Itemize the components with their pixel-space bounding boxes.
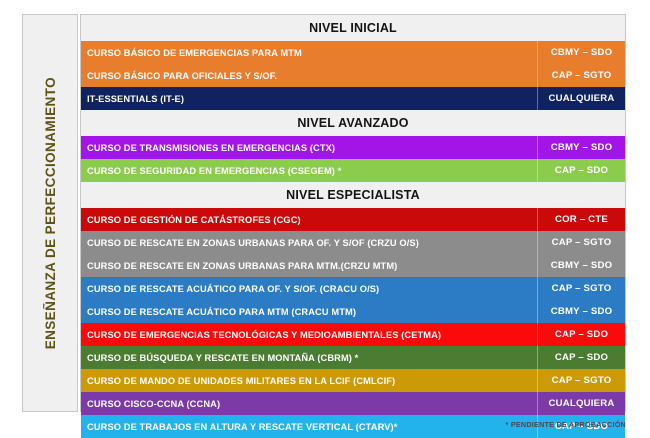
course-row[interactable]: CURSO DE BÚSQUEDA Y RESCATE EN MONTAÑA (…	[81, 346, 625, 369]
course-rank-code: CAP – SGTO	[537, 369, 625, 392]
footnote-text: * PENDIENTE DE APROBACCIÓN	[506, 420, 626, 429]
course-rank-code: CBMY – SDO	[537, 41, 625, 64]
course-name: CURSO DE RESCATE ACUÁTICO PARA MTM (CRAC…	[81, 300, 537, 323]
course-row[interactable]: CURSO DE RESCATE ACUÁTICO PARA OF. Y S/O…	[81, 277, 625, 300]
vertical-category-label: ENSEÑANZA DE PERFECCIONAMIENTO	[22, 14, 78, 412]
course-row[interactable]: CURSO BÁSICO PARA OFICIALES Y S/OF.CAP –…	[81, 64, 625, 87]
course-rank-code: CAP – SGTO	[537, 277, 625, 300]
course-name: CURSO DE GESTIÓN DE CATÁSTROFES (CGC)	[81, 208, 537, 231]
course-row[interactable]: CURSO DE RESCATE EN ZONAS URBANAS PARA M…	[81, 254, 625, 277]
section-header-row: NIVEL ESPECIALISTA	[81, 182, 625, 208]
course-name: CURSO DE RESCATE ACUÁTICO PARA OF. Y S/O…	[81, 277, 537, 300]
course-rank-code: CAP – SGTO	[537, 231, 625, 254]
course-row[interactable]: CURSO DE MANDO DE UNIDADES MILITARES EN …	[81, 369, 625, 392]
course-row[interactable]: CURSO DE EMERGENCIAS TECNOLÓGICAS Y MEDI…	[81, 323, 625, 346]
course-name: CURSO BÁSICO DE EMERGENCIAS PARA MTM	[81, 41, 537, 64]
course-rank-code: CAP – SDO	[537, 346, 625, 369]
course-rank-code: CBMY – SDO	[537, 136, 625, 159]
course-row[interactable]: CURSO DE SEGURIDAD EN EMERGENCIAS (CSEGE…	[81, 159, 625, 182]
course-rank-code: CAP – SDO	[537, 323, 625, 346]
courses-table: NIVEL INICIALCURSO BÁSICO DE EMERGENCIAS…	[80, 14, 626, 412]
training-levels-infographic: ENSEÑANZA DE PERFECCIONAMIENTO NIVEL INI…	[0, 0, 650, 438]
course-row[interactable]: CURSO CISCO-CCNA (CCNA)CUALQUIERA	[81, 392, 625, 415]
section-title: NIVEL AVANZADO	[81, 116, 625, 130]
course-name: CURSO DE EMERGENCIAS TECNOLÓGICAS Y MEDI…	[81, 323, 537, 346]
course-rank-code: CBMY – SDO	[537, 300, 625, 323]
course-row[interactable]: CURSO DE TRANSMISIONES EN EMERGENCIAS (C…	[81, 136, 625, 159]
section-title: NIVEL ESPECIALISTA	[81, 188, 625, 202]
course-row[interactable]: CURSO BÁSICO DE EMERGENCIAS PARA MTMCBMY…	[81, 41, 625, 64]
course-name: CURSO BÁSICO PARA OFICIALES Y S/OF.	[81, 64, 537, 87]
course-rank-code: CAP – SDO	[537, 159, 625, 182]
course-name: CURSO DE MANDO DE UNIDADES MILITARES EN …	[81, 369, 537, 392]
section-header-row: NIVEL INICIAL	[81, 15, 625, 41]
course-row[interactable]: CURSO DE GESTIÓN DE CATÁSTROFES (CGC)COR…	[81, 208, 625, 231]
course-name: CURSO DE BÚSQUEDA Y RESCATE EN MONTAÑA (…	[81, 346, 537, 369]
course-name: CURSO CISCO-CCNA (CCNA)	[81, 392, 537, 415]
course-rank-code: CAP – SGTO	[537, 64, 625, 87]
course-name: IT-ESSENTIALS (IT-E)	[81, 87, 537, 110]
section-title: NIVEL INICIAL	[81, 21, 625, 35]
course-name: CURSO DE RESCATE EN ZONAS URBANAS PARA M…	[81, 254, 537, 277]
course-rank-code: CBMY – SDO	[537, 254, 625, 277]
course-rank-code: CUALQUIERA	[537, 392, 625, 415]
course-name: CURSO DE TRANSMISIONES EN EMERGENCIAS (C…	[81, 136, 537, 159]
course-name: CURSO DE RESCATE EN ZONAS URBANAS PARA O…	[81, 231, 537, 254]
vertical-category-label-text: ENSEÑANZA DE PERFECCIONAMIENTO	[43, 77, 58, 349]
course-row[interactable]: IT-ESSENTIALS (IT-E)CUALQUIERA	[81, 87, 625, 110]
course-name: CURSO DE TRABAJOS EN ALTURA Y RESCATE VE…	[81, 415, 537, 438]
course-row[interactable]: CURSO DE RESCATE EN ZONAS URBANAS PARA O…	[81, 231, 625, 254]
course-name: CURSO DE SEGURIDAD EN EMERGENCIAS (CSEGE…	[81, 159, 537, 182]
course-rank-code: CUALQUIERA	[537, 87, 625, 110]
course-rank-code: COR – CTE	[537, 208, 625, 231]
course-row[interactable]: CURSO DE RESCATE ACUÁTICO PARA MTM (CRAC…	[81, 300, 625, 323]
section-header-row: NIVEL AVANZADO	[81, 110, 625, 136]
